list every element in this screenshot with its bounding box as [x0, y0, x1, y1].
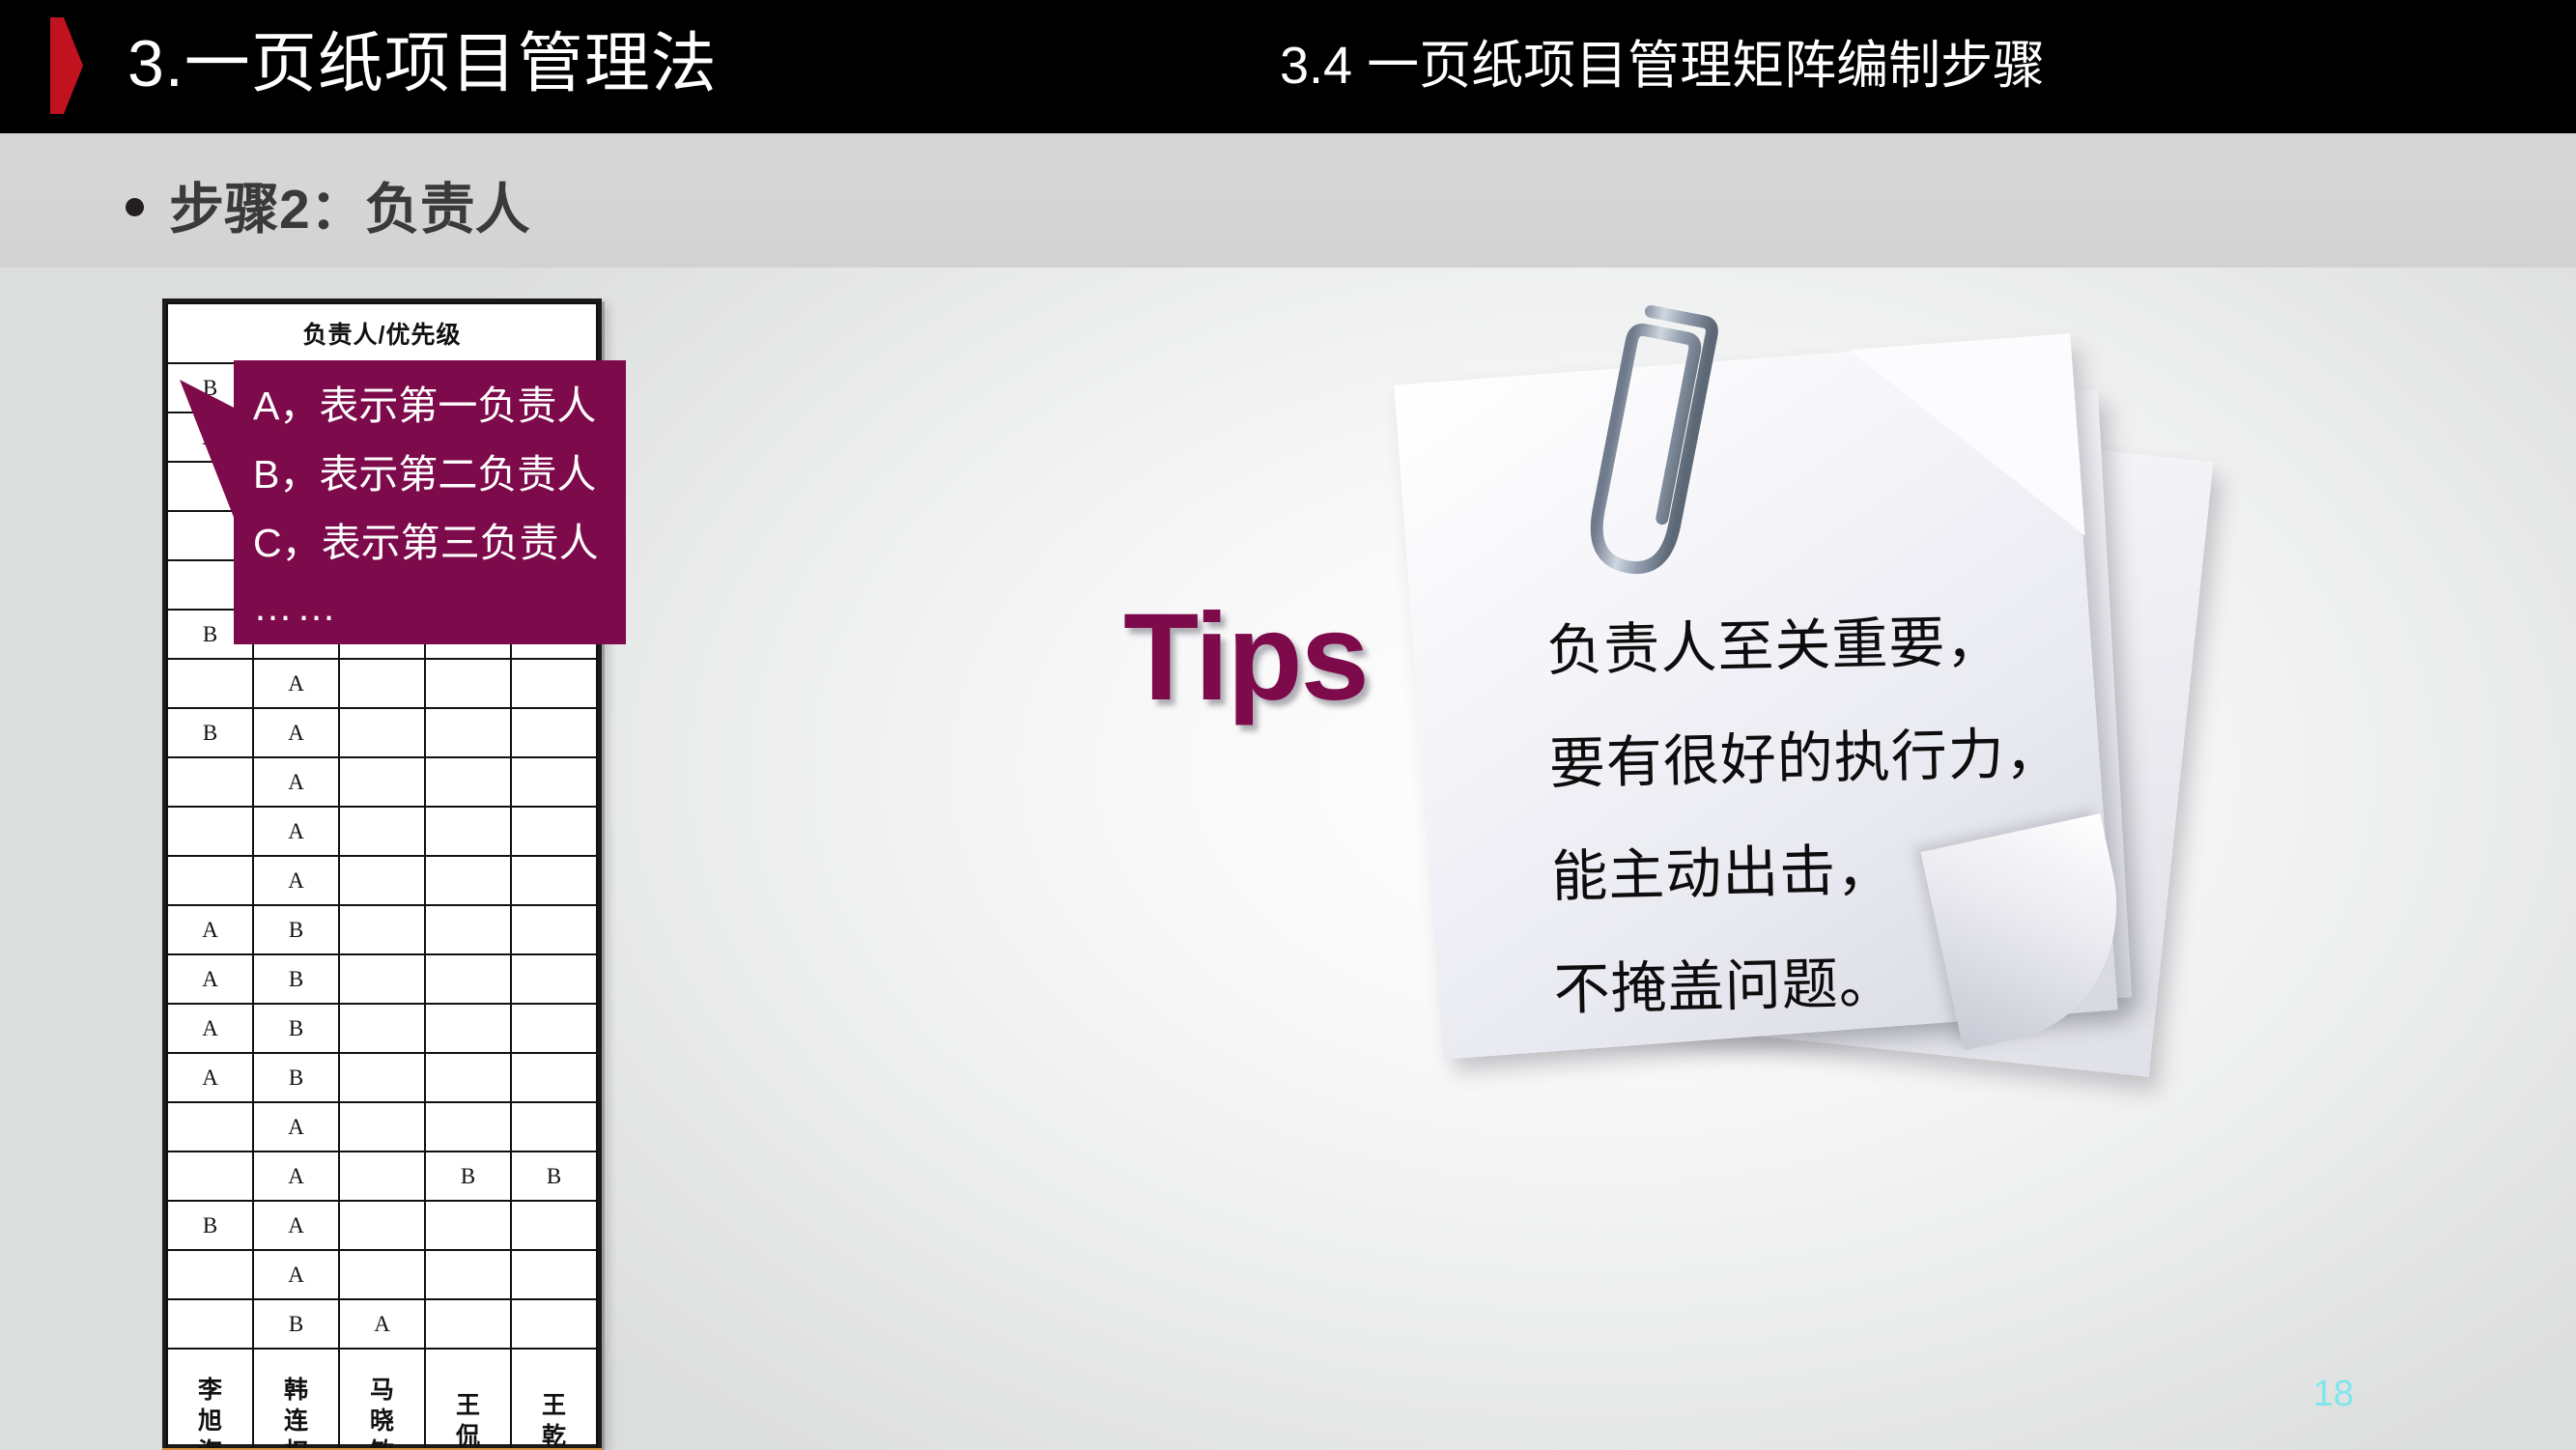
matrix-cell: A — [253, 807, 339, 856]
step-label: 步骤2：负责人 — [169, 176, 530, 243]
matrix-cell — [425, 708, 511, 757]
matrix-cell — [339, 807, 425, 856]
matrix-owner-name: 王乾 — [511, 1349, 597, 1450]
matrix-cell — [511, 1102, 597, 1151]
matrix-header-cell: 负责人/优先级 — [167, 303, 597, 363]
page-number: 18 — [2313, 1374, 2354, 1415]
matrix-cell: B — [511, 1151, 597, 1201]
matrix-cell — [511, 1250, 597, 1299]
matrix-cell — [511, 659, 597, 708]
matrix-row: BA — [167, 708, 597, 757]
matrix-cell: B — [253, 1053, 339, 1102]
matrix-cell — [339, 757, 425, 807]
note-line-1: 负责人至关重要， — [1545, 583, 2060, 707]
matrix-cell — [339, 1201, 425, 1250]
matrix-row: BA — [167, 1201, 597, 1250]
matrix-cell: B — [253, 905, 339, 954]
matrix-cell — [167, 1250, 253, 1299]
red-arrow-icon — [50, 17, 83, 114]
matrix-cell — [511, 807, 597, 856]
matrix-cell: B — [253, 1004, 339, 1053]
slide-header: 3.一页纸项目管理法 3.4 一页纸项目管理矩阵编制步骤 — [0, 0, 2576, 133]
matrix-cell — [425, 1102, 511, 1151]
matrix-cell: A — [253, 708, 339, 757]
matrix-cell — [511, 905, 597, 954]
matrix-cell: A — [253, 757, 339, 807]
matrix-owner-name: 王侃 — [425, 1349, 511, 1450]
matrix-cell — [339, 856, 425, 905]
matrix-names-row: 李旭海韩连权马晓敏王侃王乾 — [167, 1349, 597, 1450]
legend-line-b: B，表示第二负责人 — [253, 441, 639, 509]
matrix-cell — [167, 1102, 253, 1151]
matrix-cell: B — [253, 1299, 339, 1349]
matrix-cell — [167, 856, 253, 905]
matrix-row: BA — [167, 1299, 597, 1349]
matrix-cell — [511, 954, 597, 1004]
matrix-cell — [339, 659, 425, 708]
matrix-cell: B — [253, 954, 339, 1004]
matrix-owner-name: 李旭海 — [167, 1349, 253, 1450]
matrix-cell — [511, 1299, 597, 1349]
legend-line-a: A，表示第一负责人 — [253, 372, 639, 441]
matrix-cell: B — [167, 1201, 253, 1250]
slide-body: 负责人/优先级BAABAAABBAABAAAAABABABABAABBBAABA… — [0, 268, 2576, 1450]
matrix-cell — [425, 1299, 511, 1349]
matrix-row: AB — [167, 905, 597, 954]
matrix-cell — [339, 708, 425, 757]
matrix-cell — [425, 807, 511, 856]
page-title: 3.一页纸项目管理法 — [127, 14, 718, 114]
matrix-cell — [511, 708, 597, 757]
matrix-cell: A — [253, 1201, 339, 1250]
tips-note-text: 负责人至关重要， 要有很好的执行力， 能主动出击， 不掩盖问题。 — [1545, 583, 2068, 1046]
matrix-row: A — [167, 807, 597, 856]
matrix-cell: A — [167, 954, 253, 1004]
matrix-cell: A — [167, 1004, 253, 1053]
note-line-2: 要有很好的执行力， — [1548, 697, 2063, 820]
matrix-cell: A — [339, 1299, 425, 1349]
matrix-cell — [339, 1102, 425, 1151]
matrix-owner-name: 韩连权 — [253, 1349, 339, 1450]
matrix-cell — [425, 1201, 511, 1250]
matrix-header-row: 负责人/优先级 — [167, 303, 597, 363]
note-line-4: 不掩盖问题。 — [1553, 923, 2068, 1046]
matrix-cell — [425, 757, 511, 807]
matrix-row: ABB — [167, 1151, 597, 1201]
paper-fold-corner — [1849, 333, 2085, 552]
matrix-cell — [425, 856, 511, 905]
matrix-cell — [511, 757, 597, 807]
note-line-3: 能主动出击， — [1550, 810, 2065, 933]
matrix-cell — [339, 1004, 425, 1053]
matrix-cell: A — [167, 905, 253, 954]
matrix-cell — [167, 757, 253, 807]
matrix-cell: B — [425, 1151, 511, 1201]
matrix-cell — [167, 807, 253, 856]
matrix-cell: A — [167, 1053, 253, 1102]
matrix-cell — [511, 1004, 597, 1053]
matrix-cell: A — [253, 659, 339, 708]
paperclip-icon — [1563, 292, 1746, 630]
matrix-cell — [425, 659, 511, 708]
matrix-row: AB — [167, 954, 597, 1004]
matrix-row: A — [167, 659, 597, 708]
matrix-cell — [425, 1004, 511, 1053]
matrix-cell — [511, 856, 597, 905]
matrix-cell — [425, 1053, 511, 1102]
matrix-row: A — [167, 1102, 597, 1151]
matrix-cell — [339, 1250, 425, 1299]
page-subtitle: 3.4 一页纸项目管理矩阵编制步骤 — [1280, 21, 2045, 110]
bullet-dot-icon — [126, 198, 144, 216]
matrix-cell: A — [253, 1102, 339, 1151]
matrix-row: A — [167, 757, 597, 807]
matrix-row: A — [167, 1250, 597, 1299]
matrix-cell: A — [253, 1151, 339, 1201]
matrix-cell — [339, 905, 425, 954]
matrix-cell — [339, 1053, 425, 1102]
matrix-cell — [511, 1053, 597, 1102]
matrix-cell: A — [253, 1250, 339, 1299]
matrix-cell — [167, 659, 253, 708]
matrix-cell — [339, 954, 425, 1004]
matrix-cell — [425, 1250, 511, 1299]
step-label-row: 步骤2：负责人 — [126, 176, 530, 243]
legend-ellipsis: …… — [253, 578, 639, 636]
legend-callout-content: A，表示第一负责人 B，表示第二负责人 C，表示第三负责人 …… — [253, 372, 639, 636]
matrix-row: AB — [167, 1004, 597, 1053]
matrix-cell: A — [253, 856, 339, 905]
matrix-cell — [167, 1299, 253, 1349]
matrix-cell — [425, 954, 511, 1004]
matrix-cell: B — [167, 708, 253, 757]
matrix-cell — [339, 1151, 425, 1201]
legend-line-c: C，表示第三负责人 — [253, 509, 639, 578]
matrix-cell — [167, 1151, 253, 1201]
tips-title: Tips — [1123, 586, 1368, 728]
matrix-row: A — [167, 856, 597, 905]
matrix-cell — [425, 905, 511, 954]
matrix-row: AB — [167, 1053, 597, 1102]
matrix-owner-name: 马晓敏 — [339, 1349, 425, 1450]
matrix-cell — [511, 1201, 597, 1250]
